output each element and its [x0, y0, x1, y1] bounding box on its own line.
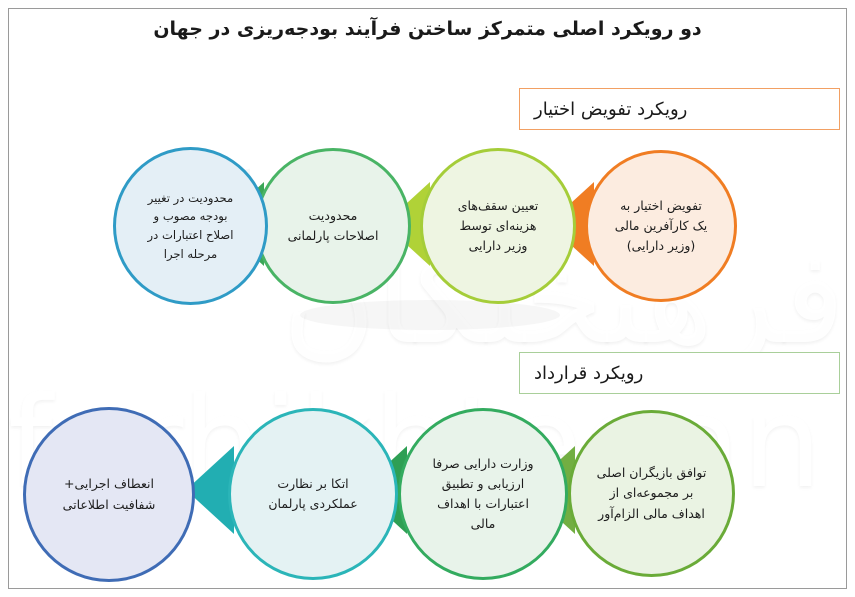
- flow-node-contract-2-text: وزارت دارایی صرفا ارزیابی و تطبیق اعتبار…: [418, 454, 547, 535]
- section-header-contract: رویکرد قرارداد: [519, 352, 840, 394]
- infographic-page: فرهیختگان farhikhtegan دو رویکرد اصلی مت…: [0, 0, 855, 597]
- flow-authority: تفویض اختیار به یک کارآفرین مالی (وزیر د…: [0, 140, 855, 320]
- page-title: دو رویکرد اصلی متمرکز ساختن فرآیند بودجه…: [0, 18, 855, 40]
- flow-node-authority-2[interactable]: تعیین سقف‌های هزینه‌ای توسط وزیر دارایی: [420, 148, 576, 304]
- flow-node-contract-1[interactable]: توافق بازیگران اصلی بر مجموعه‌ای از اهدا…: [568, 410, 735, 577]
- flow-contract: توافق بازیگران اصلی بر مجموعه‌ای از اهدا…: [0, 402, 855, 592]
- flow-node-authority-3[interactable]: محدودیت اصلاحات پارلمانی: [255, 148, 411, 304]
- flow-node-contract-3-text: اتکا بر نظارت عملکردی پارلمان: [254, 474, 371, 515]
- flow-node-authority-1[interactable]: تفویض اختیار به یک کارآفرین مالی (وزیر د…: [585, 150, 737, 302]
- flow-node-authority-1-text: تفویض اختیار به یک کارآفرین مالی (وزیر د…: [601, 196, 721, 257]
- flow-node-contract-4-text: انعطاف اجرایی+ شفافیت اطلاعاتی: [49, 474, 170, 515]
- flow-node-authority-4-text: محدودیت در تغییر بودجه مصوب و اصلاح اعتب…: [134, 189, 248, 263]
- flow-node-authority-3-text: محدودیت اصلاحات پارلمانی: [274, 206, 393, 247]
- flow-node-authority-2-text: تعیین سقف‌های هزینه‌ای توسط وزیر دارایی: [444, 196, 552, 257]
- flow-node-authority-4[interactable]: محدودیت در تغییر بودجه مصوب و اصلاح اعتب…: [113, 147, 268, 305]
- section-header-authority: رویکرد تفویض اختیار: [519, 88, 840, 130]
- flow-node-contract-3[interactable]: اتکا بر نظارت عملکردی پارلمان: [228, 408, 398, 580]
- flow-node-contract-4[interactable]: انعطاف اجرایی+ شفافیت اطلاعاتی: [23, 407, 195, 582]
- flow-node-contract-2[interactable]: وزارت دارایی صرفا ارزیابی و تطبیق اعتبار…: [398, 408, 568, 580]
- section-header-authority-label: رویکرد تفویض اختیار: [534, 99, 687, 120]
- flow-node-contract-1-text: توافق بازیگران اصلی بر مجموعه‌ای از اهدا…: [583, 463, 721, 524]
- section-header-contract-label: رویکرد قرارداد: [534, 363, 643, 384]
